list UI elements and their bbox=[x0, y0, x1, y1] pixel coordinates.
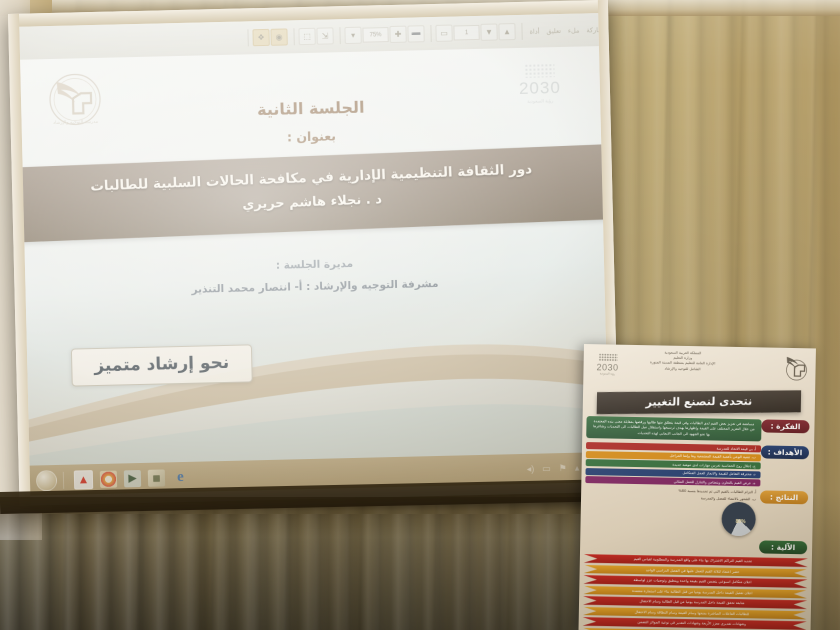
poster-section-results: النتائج : أ، التزام الطالبات بالقيم التي… bbox=[584, 487, 809, 537]
page-number-field[interactable]: 1 bbox=[453, 25, 479, 41]
lower-curtain-pleats bbox=[0, 514, 640, 630]
wall-poster: المملكة العربية السعودية وزارة التعليم ا… bbox=[579, 344, 816, 630]
vision-2030-dot-pattern bbox=[524, 63, 554, 78]
volume-icon[interactable]: ◂) bbox=[527, 463, 535, 474]
ministry-falcon-seal-logo bbox=[783, 354, 810, 382]
poster-section-idea: الفكرة : مساهمة في تعزيز بعض القيم لدى ا… bbox=[586, 416, 810, 442]
toolbar-group-zoom: ▾ 75% ✚ ➖ bbox=[339, 25, 428, 44]
poster-section-goals: الأهداف : أ، بي قيمة الاتحاد للمدرسة ب، … bbox=[585, 442, 810, 487]
office-app-icon[interactable]: ▦ bbox=[148, 469, 165, 486]
chrome-icon[interactable] bbox=[100, 470, 117, 487]
goal-row: ه، عرض القيم بالتعاون ويتضامن والتنازل ل… bbox=[585, 476, 760, 486]
print-icon[interactable]: ◉ bbox=[270, 28, 287, 45]
section-tag-idea: الفكرة : bbox=[761, 419, 809, 433]
toolbar-label-comment[interactable]: تعليق bbox=[543, 26, 564, 34]
edge-icon[interactable]: e bbox=[172, 468, 189, 485]
action-center-icon[interactable]: ⚑ bbox=[559, 462, 567, 473]
chevron-down-icon[interactable]: ▾ bbox=[344, 27, 361, 44]
slide-slogan-box: نحو إرشاد متميز bbox=[71, 344, 253, 386]
fit-page-icon[interactable]: ⬚ bbox=[298, 28, 315, 45]
page-down-icon[interactable]: ▼ bbox=[480, 23, 497, 40]
toolbar-group-page: ▭ 1 ▼ ▲ bbox=[430, 23, 519, 42]
section-body-goals: أ، بي قيمة الاتحاد للمدرسة ب، تنمية الوع… bbox=[585, 442, 761, 486]
method-row: تحديد القيم التراكم الاشتراك بها بناء عل… bbox=[584, 554, 808, 567]
toolbar-group-right: أداة تعليق ملء مشاركة ⬜ ⎙ bbox=[521, 20, 609, 40]
poster-vision-dot-pattern bbox=[598, 353, 617, 361]
show-hidden-icon[interactable]: ▴ bbox=[575, 462, 580, 473]
page-up-icon[interactable]: ▲ bbox=[498, 23, 515, 40]
slide-topic-band-text: دور الثقافة التنظيمية الإدارية في مكافحة… bbox=[20, 144, 608, 243]
fit-width-icon[interactable]: ⇲ bbox=[316, 27, 333, 44]
section-tag-results: النتائج : bbox=[760, 491, 808, 505]
start-button-icon[interactable] bbox=[36, 469, 57, 490]
slide-topic-band: دور الثقافة التنظيمية الإدارية في مكافحة… bbox=[20, 144, 608, 243]
section-body-idea: مساهمة في تعزيز بعض القيم لدى الطالبات و… bbox=[586, 416, 761, 442]
slide-entitled-label: بعنوان : bbox=[22, 122, 601, 151]
section-tag-method: الآلية : bbox=[759, 541, 807, 555]
presentation-slide: مدرسة التوجيه والإرشاد 2030 رؤية السعودي… bbox=[20, 46, 608, 466]
poster-headline: نتحدى لنصنع التغيير bbox=[597, 390, 801, 414]
toolbar-label-tool[interactable]: أداة bbox=[526, 27, 542, 35]
method-row: حصر اعتماد لثلاثة القيم للعمل عليها في ا… bbox=[584, 565, 808, 578]
save-icon[interactable]: ❖ bbox=[252, 29, 269, 46]
toolbar-label-fill[interactable]: ملء bbox=[565, 26, 583, 34]
acrobat-reader-icon[interactable]: ▲ bbox=[74, 470, 93, 489]
slide-slogan-text: نحو إرشاد متميز bbox=[94, 353, 229, 376]
taskbar-pinned-apps: ▲ ▶ ▦ e bbox=[74, 467, 189, 489]
network-icon[interactable]: ▭ bbox=[542, 463, 551, 474]
projector-screen: ❖ ◉ ⬚ ⇲ ▾ 75% ✚ ➖ ▭ 1 ▼ ▲ bbox=[8, 0, 619, 506]
method-row: اعلان متكامل اسبوعي يتضمن القيم بقيمة وا… bbox=[583, 575, 807, 588]
pie-chart-value-label: 80% bbox=[736, 519, 746, 525]
toolbar-group-view: ⬚ ⇲ bbox=[293, 27, 337, 45]
zoom-out-icon[interactable]: ➖ bbox=[407, 25, 424, 42]
poster-section-method-tag: الآلية : bbox=[584, 537, 808, 554]
toolbar-group-file: ❖ ◉ bbox=[247, 28, 291, 46]
page-thumbnail-icon[interactable]: ▭ bbox=[435, 25, 452, 42]
poster-header: المملكة العربية السعودية وزارة التعليم ا… bbox=[583, 344, 816, 392]
conference-hall-photo: ❖ ◉ ⬚ ⇲ ▾ 75% ✚ ➖ ▭ 1 ▼ ▲ bbox=[0, 0, 840, 630]
method-row: وشهادات تقديري معزز الأربعة وشهادات التق… bbox=[583, 617, 807, 630]
poster-vision-subtitle: رؤية السعودية bbox=[588, 372, 626, 376]
poster-vision-2030-logo: 2030 رؤية السعودية bbox=[588, 353, 626, 376]
section-tag-goals: الأهداف : bbox=[761, 446, 809, 460]
slide-moderator-label: مديرة الجلسة : bbox=[25, 252, 604, 278]
results-pie-chart: 80% bbox=[721, 502, 756, 537]
method-row: للطالبات الفاعلات المباشرة بمنحها وسام ا… bbox=[583, 607, 807, 620]
media-player-icon[interactable]: ▶ bbox=[124, 469, 141, 486]
slide-session-title: الجلسة الثانية bbox=[21, 92, 600, 125]
zoom-level-field[interactable]: 75% bbox=[362, 27, 388, 43]
zoom-in-icon[interactable]: ✚ bbox=[389, 26, 406, 43]
projected-desktop: ❖ ◉ ⬚ ⇲ ▾ 75% ✚ ➖ ▭ 1 ▼ ▲ bbox=[19, 13, 609, 496]
method-row: اعلان تفعيل القيمة داخل المدرسة يوميا من… bbox=[583, 586, 807, 599]
slide-moderator-name: مشرفة التوجيه والإرشاد : أ- انتصار محمد … bbox=[25, 274, 604, 300]
section-body-method: تحديد القيم التراكم الاشتراك بها بناء عل… bbox=[579, 554, 812, 630]
section-body-results: أ، التزام الطالبات بالقيم التي تم تحديده… bbox=[584, 487, 760, 536]
taskbar-divider bbox=[63, 471, 64, 488]
method-row: متابعة تحقق القيمة داخل المدرسة يوميا من… bbox=[583, 596, 807, 609]
